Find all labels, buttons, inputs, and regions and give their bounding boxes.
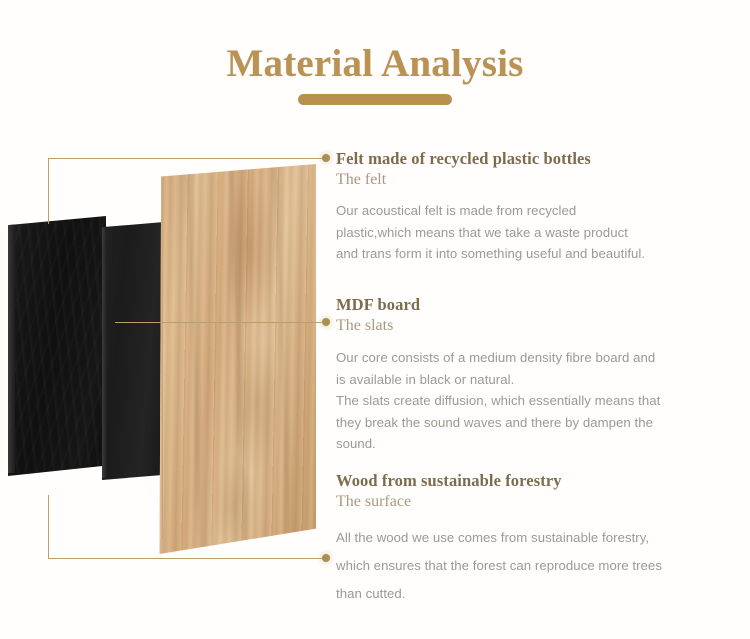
leader-line-wood-vertical [48,495,49,558]
exploded-panel-figure [0,140,330,560]
leader-line-felt-horizontal [48,158,325,159]
material-analysis-page: Material Analysis Felt made of recycled … [0,0,750,639]
section-felt-body-line-2: plastic,which means that we take a waste… [336,222,728,244]
section-mdf-body-line-1: Our core consists of a medium density fi… [336,347,728,369]
title-underline-bar [298,94,452,105]
section-felt: Felt made of recycled plastic bottles Th… [336,148,728,265]
section-mdf-body-line-3: The slats create diffusion, which essent… [336,390,728,412]
section-mdf: MDF board The slats Our core consists of… [336,294,728,455]
section-wood-body-line-3: than cutted. [336,580,728,608]
section-felt-heading: Felt made of recycled plastic bottles [336,148,728,169]
section-felt-body-line-3: and trans form it into something useful … [336,243,728,265]
page-header: Material Analysis [0,40,750,105]
section-wood: Wood from sustainable forestry The surfa… [336,470,728,608]
callout-dot-mdf [322,318,330,326]
leader-line-mdf-horizontal [115,322,325,323]
section-mdf-subheading: The slats [336,315,728,336]
leader-line-felt-vertical [48,158,49,224]
section-mdf-heading: MDF board [336,294,728,315]
section-mdf-body: Our core consists of a medium density fi… [336,347,728,455]
section-mdf-body-line-5: sound. [336,433,728,455]
felt-backing-panel [8,216,106,476]
callout-dot-wood [322,554,330,562]
section-wood-heading: Wood from sustainable forestry [336,470,728,491]
section-mdf-body-line-2: is available in black or natural. [336,369,728,391]
section-wood-body: All the wood we use comes from sustainab… [336,524,728,608]
wood-veneer-surface-panel [158,164,316,554]
section-mdf-body-line-4: they break the sound waves and there by … [336,412,728,434]
page-title: Material Analysis [0,40,750,88]
section-felt-body-line-1: Our acoustical felt is made from recycle… [336,200,728,222]
section-wood-subheading: The surface [336,491,728,512]
section-wood-body-line-1: All the wood we use comes from sustainab… [336,524,728,552]
section-wood-body-line-2: which ensures that the forest can reprod… [336,552,728,580]
leader-line-wood-horizontal [48,558,325,559]
section-felt-subheading: The felt [336,169,728,190]
mdf-slat-panel [102,222,164,480]
section-felt-body: Our acoustical felt is made from recycle… [336,200,728,265]
callout-dot-felt [322,154,330,162]
